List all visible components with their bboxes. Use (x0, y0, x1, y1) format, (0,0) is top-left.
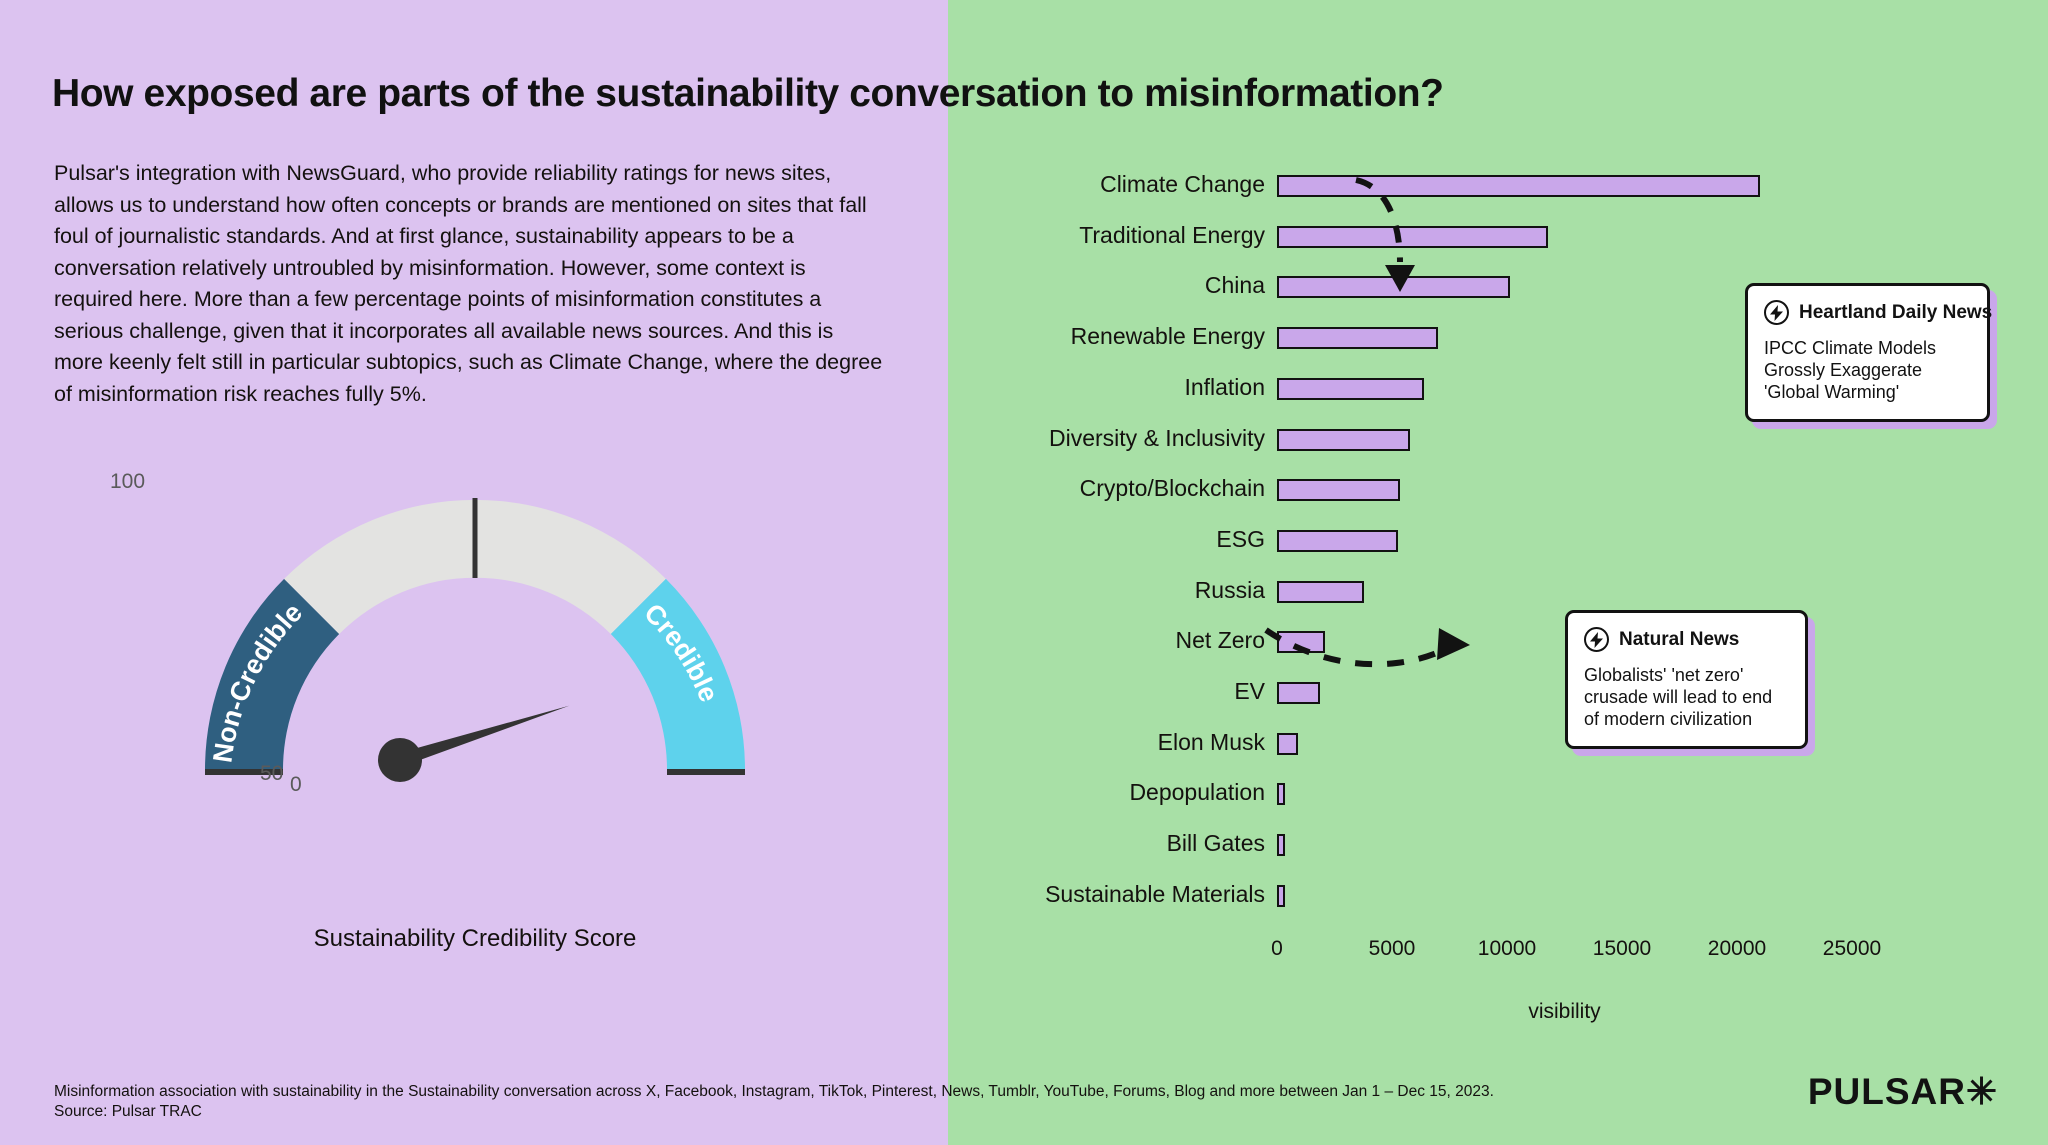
gauge-needle (378, 701, 572, 782)
callout-heartland-daily-news[interactable]: Heartland Daily News IPCC Climate Models… (1745, 283, 1990, 422)
lightning-bolt-icon (1584, 627, 1609, 652)
callout-source-name: Natural News (1619, 629, 1739, 651)
connector-arrow-netzero (1266, 630, 1448, 664)
callout-headline: IPCC Climate Models Grossly Exaggerate '… (1764, 337, 1971, 403)
gauge-min-label: 0 (290, 773, 302, 797)
gauge-svg: Non-Credible Credible (110, 470, 840, 850)
sustainability-credibility-gauge: Non-Credible Credible 50 0 100 (110, 470, 840, 850)
connector-arrow-climate (1356, 180, 1400, 262)
callout-header: Heartland Daily News (1764, 300, 1971, 325)
arrowhead-netzero (1437, 628, 1470, 660)
footer-line-2: Source: Pulsar TRAC (54, 1102, 1654, 1122)
intro-paragraph: Pulsar's integration with NewsGuard, who… (54, 158, 884, 410)
gauge-max-label: 100 (110, 470, 145, 494)
bolt-glyph (1770, 305, 1783, 321)
callout-natural-news[interactable]: Natural News Globalists' 'net zero' crus… (1565, 610, 1808, 749)
callout-connectors (948, 0, 2048, 1145)
bolt-glyph (1590, 632, 1603, 648)
gauge-mid-label: 50 (260, 762, 283, 786)
footer-line-1: Misinformation association with sustaina… (54, 1082, 1654, 1102)
callout-headline: Globalists' 'net zero' crusade will lead… (1584, 664, 1789, 730)
lightning-bolt-icon (1764, 300, 1789, 325)
footer-note: Misinformation association with sustaina… (54, 1082, 1654, 1122)
callout-header: Natural News (1584, 627, 1789, 652)
gauge-caption: Sustainability Credibility Score (110, 925, 840, 953)
arrowhead-climate (1385, 265, 1415, 292)
pulsar-logo: PULSAR✳ (1808, 1070, 1998, 1113)
visibility-bar-chart: Climate ChangeTraditional EnergyChinaRen… (948, 0, 2048, 1145)
callout-source-name: Heartland Daily News (1799, 302, 1992, 324)
